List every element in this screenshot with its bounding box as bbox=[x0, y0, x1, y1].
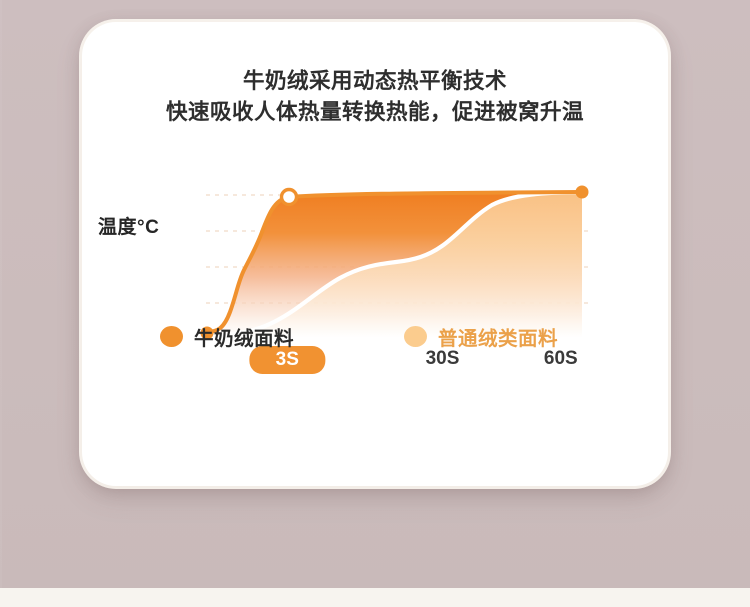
headline: 牛奶绒采用动态热平衡技术 快速吸收人体热量转换热能，促进被窝升温 bbox=[82, 66, 668, 128]
bottom-strip bbox=[0, 588, 750, 607]
datapoint-marker-3s bbox=[282, 190, 297, 205]
datapoint-marker-60s bbox=[576, 186, 589, 199]
y-axis-label: 温度°C bbox=[98, 212, 159, 239]
legend-label-milk-velvet: 牛奶绒面料 bbox=[194, 322, 294, 351]
headline-line-2: 快速吸收人体热量转换热能，促进被窝升温 bbox=[82, 97, 668, 128]
legend-item-milk-velvet: 牛奶绒面料 bbox=[160, 322, 294, 351]
legend-dot-ordinary-velvet bbox=[404, 326, 427, 347]
headline-line-1: 牛奶绒采用动态热平衡技术 bbox=[82, 66, 668, 97]
temperature-chart: 温度°C bbox=[82, 174, 668, 404]
legend-dot-milk-velvet bbox=[160, 326, 183, 347]
legend-label-ordinary-velvet: 普通绒类面料 bbox=[438, 322, 558, 351]
chart-legend: 牛奶绒面料 普通绒类面料 bbox=[82, 322, 668, 362]
legend-item-ordinary-velvet: 普通绒类面料 bbox=[404, 322, 558, 351]
info-card: 牛奶绒采用动态热平衡技术 快速吸收人体热量转换热能，促进被窝升温 温度°C bbox=[82, 22, 668, 486]
